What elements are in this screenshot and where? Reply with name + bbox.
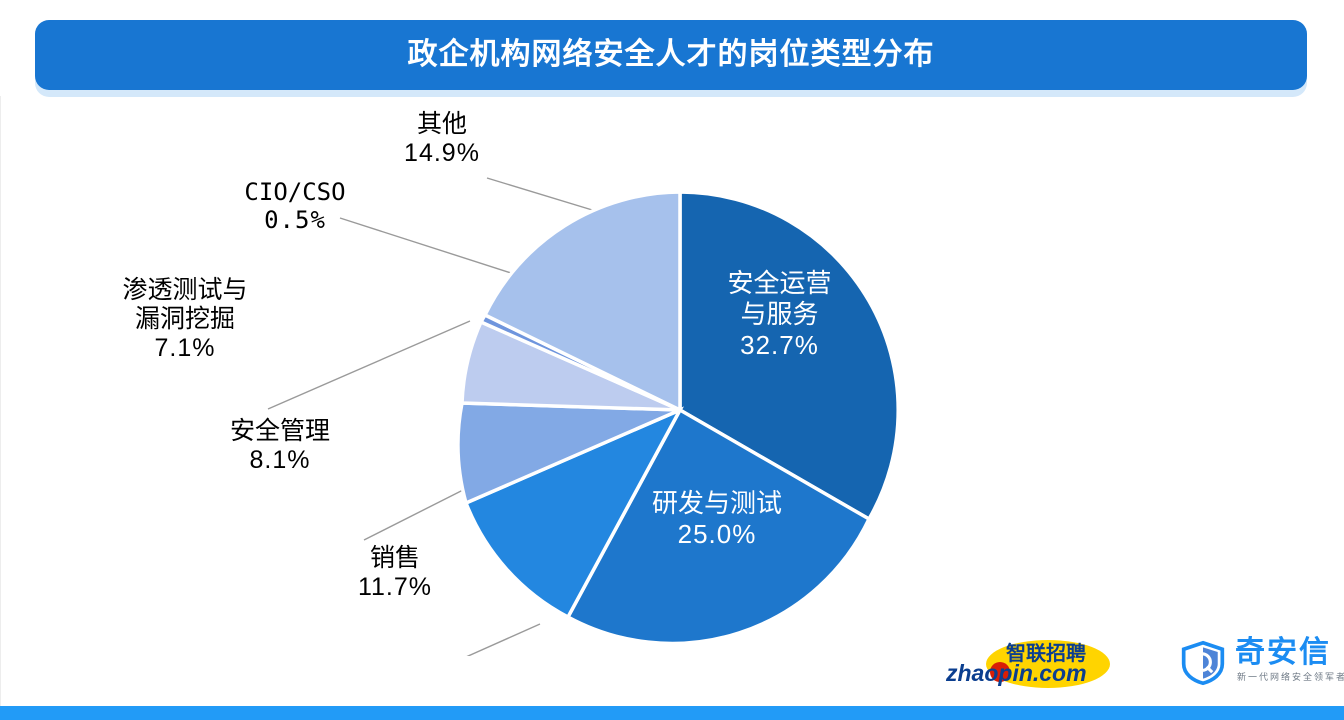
qianxin-tagline: 新一代网络安全领军者 [1237, 673, 1344, 682]
leader-line-xiaoshou [448, 624, 540, 656]
label-anquanyunying-value: 32.7% [672, 330, 887, 361]
zhaopin-logo[interactable]: 智联招聘 zhaopin.com [938, 640, 1138, 692]
pie-slices [458, 192, 898, 643]
label-anquanyunying-name-line2: 与服务 [672, 299, 887, 330]
label-yanfaceshi: 研发与测试 25.0% [617, 488, 817, 550]
zhaopin-wordmark: zhaopin.com [945, 660, 1087, 686]
label-xiaoshou-value: 11.7% [330, 573, 460, 602]
qianxin-logo[interactable]: 奇安信 新一代网络安全领军者 [1180, 640, 1340, 692]
shield-icon [1180, 640, 1226, 686]
label-shentouceshi: 渗透测试与 漏洞挖掘 7.1% [80, 276, 290, 363]
label-shentouceshi-name-line2: 漏洞挖掘 [80, 305, 290, 334]
label-xiaoshou: 销售 11.7% [330, 544, 460, 602]
page-title: 政企机构网络安全人才的岗位类型分布 [408, 40, 935, 70]
label-shentouceshi-value: 7.1% [80, 334, 290, 363]
title-banner: 政企机构网络安全人才的岗位类型分布 [35, 20, 1307, 90]
qianxin-title: 奇安信 [1235, 638, 1331, 668]
label-anquanguanli-name: 安全管理 [230, 417, 330, 445]
label-yanfaceshi-value: 25.0% [617, 519, 817, 550]
label-qita-value: 14.9% [372, 139, 512, 168]
label-ciocso: CIO/CSO 0.5% [205, 178, 385, 235]
label-xiaoshou-name: 销售 [370, 544, 420, 572]
leader-line-shentou [268, 321, 470, 409]
label-qita-name: 其他 [417, 110, 467, 138]
footer-logos: 智联招聘 zhaopin.com 奇安信 新一代网络安全领军者 [930, 636, 1330, 698]
slide-canvas: 政企机构网络安全人才的岗位类型分布 [0, 0, 1344, 720]
label-ciocso-value: 0.5% [205, 207, 385, 235]
zhaopin-logo-svg: 智联招聘 zhaopin.com [938, 640, 1138, 692]
label-anquanguanli: 安全管理 8.1% [190, 417, 370, 475]
label-anquanyunying: 安全运营 与服务 32.7% [672, 268, 887, 362]
pie-chart-svg [0, 96, 1344, 656]
label-qita: 其他 14.9% [372, 110, 512, 168]
footer-bar [0, 706, 1344, 720]
label-shentouceshi-name-line1: 渗透测试与 [122, 276, 247, 304]
pie-chart: 其他 14.9% CIO/CSO 0.5% 渗透测试与 漏洞挖掘 7.1% 安全… [0, 96, 1344, 656]
label-anquanyunying-name-line1: 安全运营 [727, 268, 831, 298]
leader-line-anquanguanli [364, 488, 467, 540]
label-yanfaceshi-name: 研发与测试 [652, 488, 782, 518]
label-ciocso-name: CIO/CSO [244, 178, 345, 206]
label-anquanguanli-value: 8.1% [190, 446, 370, 475]
